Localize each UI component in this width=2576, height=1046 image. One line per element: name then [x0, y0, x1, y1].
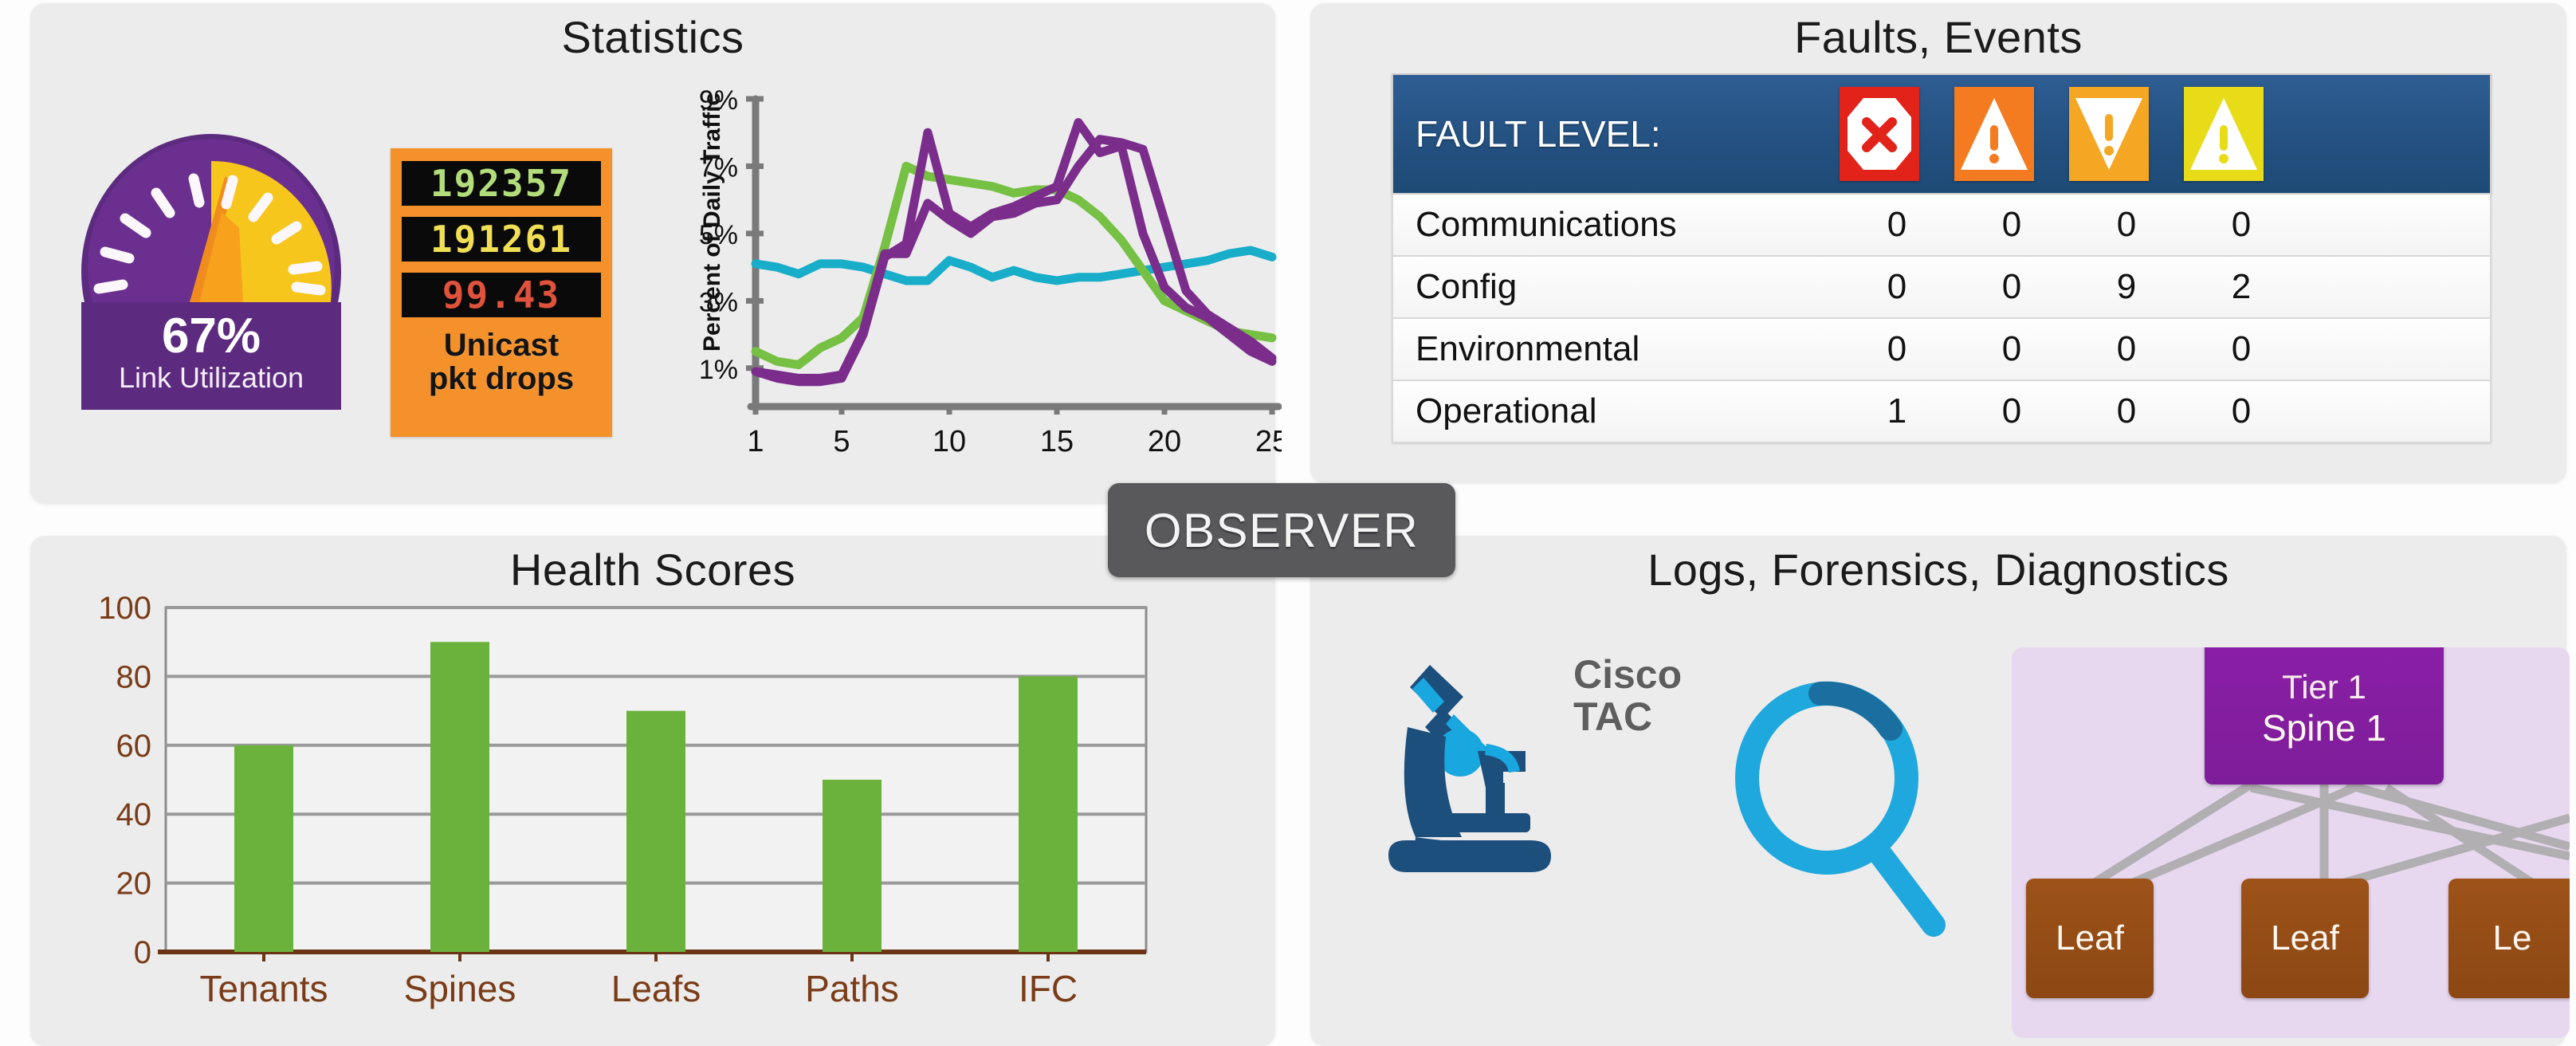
svg-text:Tenants: Tenants — [199, 968, 328, 1009]
packet-caption-line2: pkt drops — [402, 362, 601, 395]
dashboard-root: Statistics — [0, 0, 2576, 1046]
severity-critical-cell — [1840, 87, 1919, 181]
fault-count-major: 0 — [1954, 267, 2069, 307]
fault-count-warning: 0 — [2184, 391, 2299, 431]
fault-count-major: 0 — [1954, 329, 2069, 369]
svg-text:5: 5 — [833, 425, 850, 458]
triangle-warning-icon — [2184, 87, 2264, 181]
svg-text:10: 10 — [933, 425, 966, 458]
severity-minor-cell — [2069, 87, 2149, 181]
table-row[interactable]: Environmental 0 0 0 0 — [1392, 319, 2492, 381]
triangle-warning-icon — [1954, 87, 2034, 181]
svg-text:100: 100 — [98, 593, 151, 626]
svg-text:20: 20 — [116, 867, 152, 902]
lcd-readout-drop: 99.43 — [402, 273, 601, 317]
traffic-line-chart: Percent of Daily Traffic 1%3%5%7%9%15101… — [676, 83, 1282, 482]
packet-caption-line1: Unicast — [402, 328, 601, 362]
line-chart-ylabel: Percent of Daily Traffic — [699, 96, 726, 352]
spine-tier-label: Tier 1 — [2282, 668, 2366, 706]
fault-count-minor: 0 — [2069, 391, 2184, 431]
topology-node-spine[interactable]: Tier 1 Spine 1 — [2205, 647, 2444, 784]
svg-text:1: 1 — [747, 425, 764, 458]
logs-content: Cisco TAC — [1310, 615, 2566, 1046]
svg-text:Spines: Spines — [404, 968, 516, 1009]
cisco-label-line1: Cisco — [1573, 654, 1682, 696]
lcd-readout-tx: 191261 — [402, 217, 601, 261]
lcd-readout-rx: 192357 — [402, 161, 601, 206]
panel-logs-forensics: Logs, Forensics, Diagnostics Cisco — [1310, 536, 2566, 1046]
svg-text:Leafs: Leafs — [611, 968, 701, 1009]
svg-text:1%: 1% — [699, 355, 738, 385]
bar-chart-svg: 020406080100TenantsSpinesLeafsPathsIFC — [78, 593, 1226, 1024]
fault-count-critical: 0 — [1840, 205, 1954, 245]
health-scores-bar-chart: 020406080100TenantsSpinesLeafsPathsIFC — [78, 593, 1226, 1024]
fault-count-critical: 1 — [1840, 391, 1954, 431]
panel-faults-events: Faults, Events FAULT LEVEL: — [1310, 3, 2566, 483]
fault-table-header: FAULT LEVEL: — [1392, 73, 2492, 195]
health-scores-title: Health Scores — [30, 536, 1275, 596]
link-utilization-gauge: 67% Link Utilization 67% Link Utilizatio… — [80, 132, 343, 411]
severity-major-cell — [1954, 87, 2034, 181]
spine-name-label: Spine 1 — [2262, 706, 2386, 749]
panel-statistics: Statistics — [30, 3, 1275, 504]
table-row[interactable]: Communications 0 0 0 0 — [1392, 195, 2492, 257]
topology-node-leaf[interactable]: Le — [2448, 879, 2570, 998]
topology-node-leaf[interactable]: Leaf — [2241, 879, 2369, 998]
svg-text:0: 0 — [134, 935, 151, 970]
fault-count-warning: 0 — [2184, 329, 2299, 369]
fault-count-warning: 0 — [2184, 205, 2299, 245]
magnifying-glass-icon — [1733, 679, 1956, 942]
severity-warning-cell — [2184, 87, 2264, 181]
svg-text:80: 80 — [116, 659, 152, 694]
gauge-svg: 67% Link Utilization — [80, 132, 343, 411]
gauge-value-text: 67% — [162, 309, 261, 364]
packet-board-caption: Unicast pkt drops — [402, 328, 601, 395]
svg-text:25: 25 — [1255, 425, 1282, 458]
statistics-title: Statistics — [30, 3, 1275, 63]
fault-count-major: 0 — [1954, 205, 2069, 245]
fault-count-critical: 0 — [1840, 329, 1954, 369]
observer-label: OBSERVER — [1145, 503, 1419, 558]
logs-title: Logs, Forensics, Diagnostics — [1310, 536, 2566, 596]
svg-text:40: 40 — [116, 797, 152, 832]
octagon-x-icon — [1840, 87, 1919, 181]
fault-count-major: 0 — [1954, 391, 2069, 431]
svg-text:60: 60 — [116, 729, 152, 764]
fault-count-minor: 0 — [2069, 205, 2184, 245]
network-topology-diagram: Tier 1 Spine 1 Leaf Leaf Le — [2012, 647, 2570, 1038]
unicast-packet-drop-board: 192357 191261 99.43 Unicast pkt drops — [391, 148, 612, 437]
fault-category: Communications — [1393, 205, 1840, 245]
fault-category: Config — [1393, 267, 1840, 307]
gauge-caption-text: Link Utilization — [119, 361, 304, 394]
fault-count-warning: 2 — [2184, 267, 2299, 307]
line-chart-svg: 1%3%5%7%9%1510152025 — [676, 83, 1282, 482]
topology-node-leaf[interactable]: Leaf — [2026, 879, 2154, 998]
faults-title: Faults, Events — [1310, 3, 2566, 63]
panel-health-scores: Health Scores 020406080100TenantsSpinesL… — [30, 536, 1275, 1046]
observer-badge[interactable]: OBSERVER — [1108, 483, 1455, 577]
svg-text:Paths: Paths — [805, 968, 899, 1009]
fault-level-label: FAULT LEVEL: — [1393, 112, 1840, 155]
svg-text:15: 15 — [1040, 425, 1074, 458]
triangle-down-warning-icon — [2069, 87, 2149, 181]
fault-level-table: FAULT LEVEL: — [1392, 73, 2492, 443]
table-row[interactable]: Operational 1 0 0 0 — [1392, 381, 2492, 443]
fault-count-minor: 0 — [2069, 329, 2184, 369]
microscope-icon — [1366, 631, 1605, 895]
svg-text:IFC: IFC — [1019, 968, 1078, 1009]
svg-text:20: 20 — [1148, 425, 1181, 458]
fault-count-minor: 9 — [2069, 267, 2184, 307]
fault-category: Environmental — [1393, 329, 1840, 369]
fault-count-critical: 0 — [1840, 267, 1954, 307]
fault-category: Operational — [1393, 391, 1840, 431]
table-row[interactable]: Config 0 0 9 2 — [1392, 257, 2492, 319]
cisco-label-line2: TAC — [1573, 696, 1682, 738]
cisco-tac-label: Cisco TAC — [1573, 654, 1682, 737]
